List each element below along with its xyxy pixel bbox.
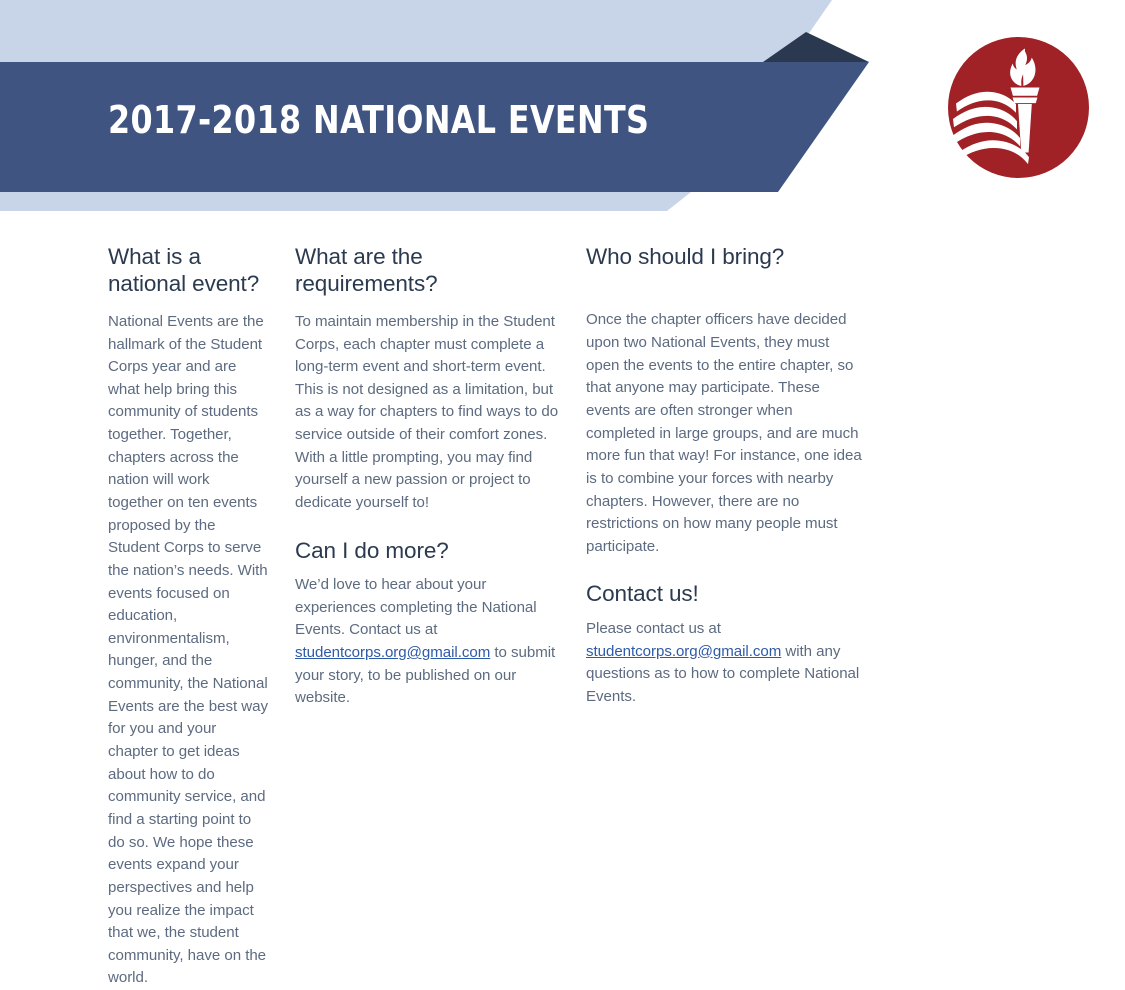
email-link-questions[interactable]: studentcorps.org@gmail.com: [586, 643, 781, 660]
column-3-body-secondary-prefix: Please contact us at: [586, 620, 721, 637]
column-2-body: To maintain membership in the Student Co…: [295, 311, 561, 515]
column-who-should-i-bring: Who should I bring? Once the chapter off…: [583, 243, 883, 708]
banner-light-band-lower: [0, 192, 691, 211]
content-columns: What is a national event? National Event…: [0, 243, 1125, 990]
column-what-are-the-requirements: What are the requirements? To maintain m…: [290, 243, 583, 710]
column-2-heading: What are the requirements?: [295, 243, 561, 298]
organization-logo: [948, 37, 1089, 178]
column-3-subheading: Contact us!: [586, 580, 863, 607]
column-1-heading: What is a national event?: [108, 243, 268, 298]
banner-light-band-upper: [0, 0, 832, 62]
column-2-subheading: Can I do more?: [295, 537, 561, 564]
column-2-body-secondary: We’d love to hear about your experiences…: [295, 574, 561, 710]
column-what-is-a-national-event: What is a national event? National Event…: [0, 243, 290, 990]
column-3-body-secondary: Please contact us at studentcorps.org@gm…: [586, 618, 863, 709]
email-link-submit-story[interactable]: studentcorps.org@gmail.com: [295, 644, 490, 661]
column-3-body: Once the chapter officers have decided u…: [586, 309, 863, 558]
column-3-heading: Who should I bring?: [586, 243, 863, 270]
column-2-body-secondary-prefix: We’d love to hear about your experiences…: [295, 576, 537, 638]
page-title: 2017-2018 NATIONAL EVENTS: [108, 101, 649, 139]
torch-and-flag-emblem-icon: [948, 37, 1089, 178]
column-1-body: National Events are the hallmark of the …: [108, 311, 268, 990]
